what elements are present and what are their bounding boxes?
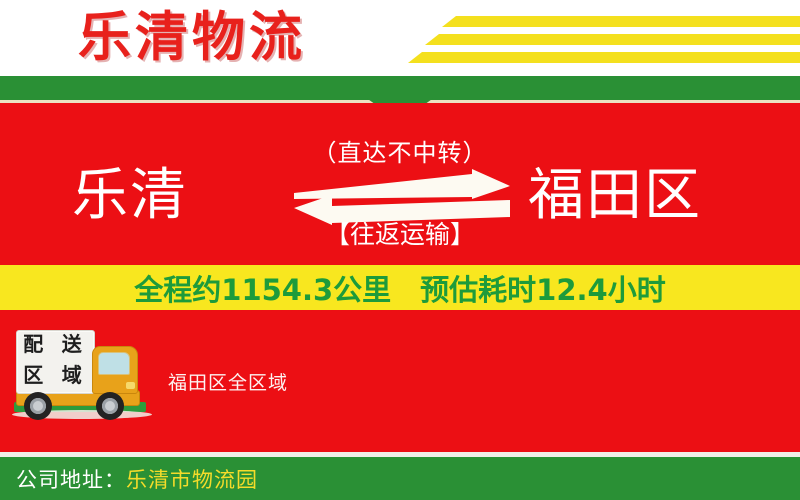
- distance-duration-text: 全程约1154.3公里 预估耗时12.4小时: [134, 267, 665, 309]
- address-value: 乐清市物流园: [126, 464, 258, 494]
- banner-header: 乐清物流: [0, 0, 800, 76]
- green-divider-bar: [0, 76, 800, 100]
- truck-cargo-label: 配 送 区 域: [14, 328, 91, 390]
- banner-footer: 公司地址： 乐清市物流园: [0, 457, 800, 500]
- logistics-banner: 乐清物流 （直达不中转） 乐清 福田区 【往返运输】 全程约1154.3公里 预…: [0, 0, 800, 500]
- metrics-bar: 全程约1154.3公里 预估耗时12.4小时: [0, 265, 800, 310]
- truck-char-1: 配: [23, 334, 43, 354]
- truck-wheel-front: [96, 392, 124, 420]
- truck-char-2: 送: [62, 334, 82, 354]
- address-label: 公司地址：: [16, 464, 126, 494]
- delivery-truck-icon: 配 送 区 域: [14, 328, 152, 428]
- stripe-2: [425, 34, 800, 45]
- coverage-area-text: 福田区全区域: [168, 368, 288, 395]
- truck-headlamp: [126, 382, 135, 389]
- decorative-stripes: [405, 12, 800, 68]
- stripe-3: [408, 52, 800, 63]
- delivery-panel: 配 送 区 域 福田区全区域: [0, 310, 800, 452]
- route-panel: （直达不中转） 乐清 福田区 【往返运输】: [0, 103, 800, 265]
- arrow-right-shape: [294, 169, 510, 199]
- truck-wheel-rear: [24, 392, 52, 420]
- brand-title: 乐清物流: [78, 6, 306, 70]
- stripe-1: [442, 16, 800, 27]
- route-note-bottom: 【往返运输】: [0, 215, 800, 251]
- truck-char-4: 域: [62, 365, 82, 385]
- truck-window: [98, 352, 130, 375]
- truck-char-3: 区: [23, 365, 43, 385]
